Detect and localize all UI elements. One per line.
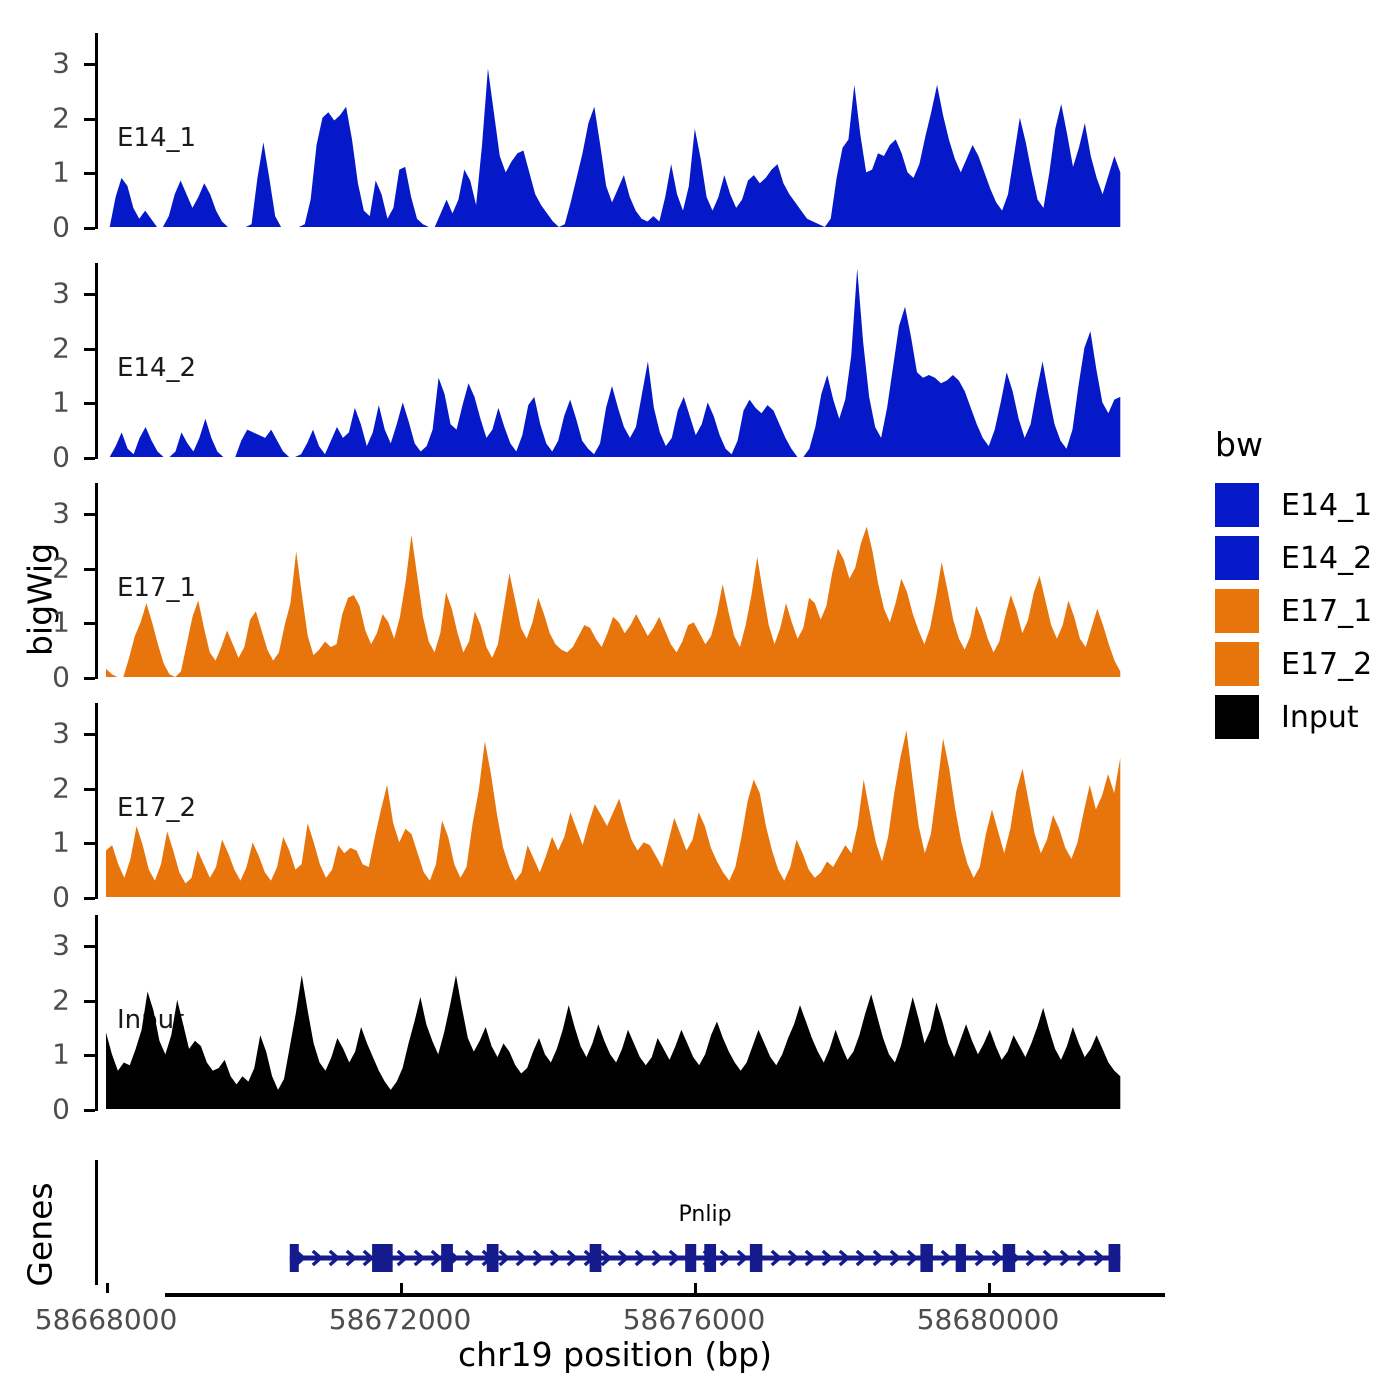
x-tick-label: 58676000 (623, 1303, 766, 1336)
track-panel-e17_1: 0123E17_1 (95, 483, 1135, 679)
x-tick (694, 1283, 697, 1293)
x-axis-line (165, 1293, 1165, 1297)
gene-exon (372, 1244, 393, 1272)
x-tick-label: 58668000 (35, 1303, 178, 1336)
legend-item-label: E17_1 (1281, 594, 1372, 629)
x-tick (106, 1283, 109, 1293)
legend-item-label: E17_2 (1281, 647, 1372, 682)
y-tick (84, 677, 95, 680)
y-tick (84, 733, 95, 736)
legend-color-swatch (1215, 642, 1259, 686)
track-panel-e14_1: 0123E14_1 (95, 33, 1135, 229)
track-area-e14_2 (95, 263, 1135, 459)
x-tick-label: 58680000 (917, 1303, 1060, 1336)
y-tick (84, 945, 95, 948)
y-tick (84, 293, 95, 296)
y-tick (84, 63, 95, 66)
gene-exon (1109, 1244, 1121, 1272)
track-panel-e17_2: 0123E17_2 (95, 703, 1135, 899)
y-tick-label: 1 (5, 386, 70, 419)
legend-item-e17_2[interactable]: E17_2 (1215, 642, 1372, 686)
y-tick (84, 897, 95, 900)
y-tick (84, 1054, 95, 1057)
y-tick-label: 0 (5, 441, 70, 474)
y-tick (84, 1109, 95, 1112)
legend-title: bw (1215, 425, 1263, 464)
y-tick (84, 622, 95, 625)
gene-exon (487, 1244, 499, 1272)
gene-exon (1003, 1244, 1015, 1272)
y-tick (84, 227, 95, 230)
legend-color-swatch (1215, 536, 1259, 580)
y-tick-label: 2 (5, 771, 70, 804)
y-tick (84, 457, 95, 460)
track-area-e17_2 (95, 703, 1135, 899)
x-axis-title: chr19 position (bp) (140, 1335, 1090, 1374)
gene-panel: Pnlip (95, 1160, 1135, 1285)
legend-color-swatch (1215, 483, 1259, 527)
y-tick (84, 172, 95, 175)
gene-exon (590, 1244, 602, 1272)
y-tick-label: 1 (5, 606, 70, 639)
y-tick-label: 3 (5, 717, 70, 750)
gene-exon (441, 1244, 453, 1272)
y-tick (84, 348, 95, 351)
y-tick-label: 1 (5, 826, 70, 859)
gene-exon (750, 1244, 762, 1272)
gene-exon (920, 1244, 932, 1272)
track-area-e14_1 (95, 33, 1135, 229)
y-tick (84, 513, 95, 516)
y-tick-label: 2 (5, 101, 70, 134)
track-area-e17_1 (95, 483, 1135, 679)
gene-name-label: Pnlip (679, 1202, 732, 1227)
legend-item-e14_2[interactable]: E14_2 (1215, 536, 1372, 580)
legend-item-e14_1[interactable]: E14_1 (1215, 483, 1372, 527)
gene-exon (685, 1244, 696, 1272)
y-tick-label: 0 (5, 1093, 70, 1126)
y-tick-label: 1 (5, 1038, 70, 1071)
gene-exon (290, 1244, 299, 1272)
y-tick-label: 0 (5, 661, 70, 694)
y-tick (84, 842, 95, 845)
legend-item-label: Input (1281, 700, 1359, 735)
y-tick (84, 118, 95, 121)
gene-model (95, 1160, 1135, 1285)
y-tick-label: 3 (5, 929, 70, 962)
y-axis-title: bigWig (21, 525, 60, 675)
track-panel-input: 0123Input (95, 915, 1135, 1111)
track-area-input (95, 915, 1135, 1111)
y-tick-label: 3 (5, 277, 70, 310)
legend-item-e17_1[interactable]: E17_1 (1215, 589, 1372, 633)
gene-exon (956, 1244, 966, 1272)
legend-item-input[interactable]: Input (1215, 695, 1359, 739)
y-tick-label: 3 (5, 47, 70, 80)
legend-color-swatch (1215, 695, 1259, 739)
y-tick-label: 2 (5, 551, 70, 584)
y-tick-label: 2 (5, 983, 70, 1016)
y-tick (84, 568, 95, 571)
x-tick (400, 1283, 403, 1293)
y-tick-label: 0 (5, 881, 70, 914)
y-tick-label: 1 (5, 156, 70, 189)
legend-item-label: E14_2 (1281, 541, 1372, 576)
genes-axis-title: Genes (21, 1165, 60, 1305)
y-tick (84, 402, 95, 405)
gene-exon (704, 1244, 716, 1272)
y-tick-label: 0 (5, 211, 70, 244)
x-tick (988, 1283, 991, 1293)
x-tick-label: 58672000 (329, 1303, 472, 1336)
y-tick-label: 3 (5, 497, 70, 530)
y-tick-label: 2 (5, 331, 70, 364)
y-tick (84, 1000, 95, 1003)
legend-item-label: E14_1 (1281, 488, 1372, 523)
figure-root: bigWig Genes 0123E14_10123E14_20123E17_1… (0, 0, 1400, 1400)
legend-color-swatch (1215, 589, 1259, 633)
track-panel-e14_2: 0123E14_2 (95, 263, 1135, 459)
y-tick (84, 788, 95, 791)
